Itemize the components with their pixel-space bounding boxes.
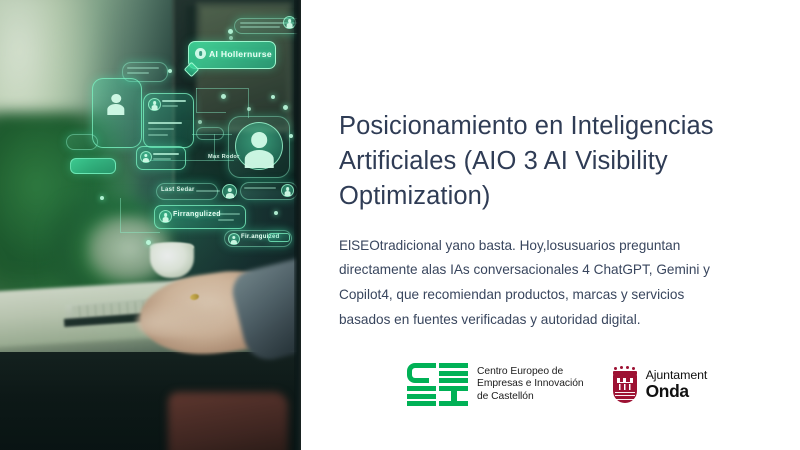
ceei-mark-icon: [407, 363, 468, 406]
holo-avatar-last: [228, 233, 240, 245]
holo-line-c1: [162, 100, 186, 102]
holo-line-f2: [218, 219, 234, 221]
ceei-letter-c: [407, 363, 436, 383]
holo-node-n6: [289, 134, 293, 138]
holo-line-l1b: [127, 72, 149, 74]
holo-avatar-row2: [281, 184, 294, 197]
ceei-line-2: Empresas e Innovación: [477, 378, 584, 390]
holo-node-n4: [247, 107, 251, 111]
holo-connector-4: [196, 112, 226, 113]
holo-label-firrangulized: Firrangulized: [173, 211, 221, 218]
content-panel: Posicionamiento en Inteligencias Artific…: [301, 0, 800, 450]
ajuntament-onda-logo: Ajuntament Onda: [612, 366, 708, 404]
holo-bubble-pill: [268, 233, 290, 242]
holo-node-n7: [100, 196, 104, 200]
holo-line-r2: [244, 187, 276, 189]
holo-connector-2: [196, 88, 248, 89]
holo-bubble-small-3: [196, 127, 224, 140]
holo-connector-8: [120, 198, 121, 232]
holo-avatar-firr: [159, 210, 172, 223]
ceei-logo: Centro Europeo de Empresas e Innovación …: [407, 363, 584, 406]
ceei-line-1: Centro Europeo de: [477, 366, 584, 378]
holo-avatar-mid: [140, 151, 152, 163]
microphone-icon: [195, 48, 206, 59]
holo-node-n2: [271, 95, 275, 99]
onda-castle-base: [617, 382, 633, 390]
holo-connector-9: [120, 232, 160, 233]
holo-bubble-small-2: [70, 158, 116, 174]
page-title: Posicionamiento en Inteligencias Artific…: [339, 109, 759, 214]
holo-line-m1: [153, 153, 179, 155]
onda-wordmark: Ajuntament Onda: [646, 369, 708, 401]
logo-row: Centro Europeo de Empresas e Innovación …: [407, 363, 707, 406]
hero-right-edge: [294, 0, 301, 450]
holo-node-top: [228, 29, 233, 34]
holo-node-n1: [221, 94, 226, 99]
holo-node-n5: [198, 120, 202, 124]
holo-avatar-row: [222, 184, 237, 199]
body-paragraph: ElSEOtradicional yano basta. Hoy,losusua…: [339, 234, 739, 333]
ceei-letter-e1: [439, 363, 468, 383]
ceei-wordmark: Centro Europeo de Empresas e Innovación …: [477, 366, 584, 403]
holo-node-n8: [146, 240, 151, 245]
holo-connector-3: [248, 88, 249, 118]
holo-avatar-right: [235, 122, 283, 170]
onda-shield-icon: [612, 366, 638, 404]
ceei-letter-i: [439, 386, 468, 406]
holo-connector-1: [196, 88, 197, 112]
holo-node-l1: [168, 69, 172, 73]
hero-image: AI Hollernurse: [0, 0, 301, 450]
holo-bubble-small-1: [66, 134, 98, 150]
ceei-line-3: de Castellón: [477, 391, 584, 403]
holo-label-mau-bottor: Last Sedar: [161, 187, 195, 193]
holo-avatar-large: [102, 88, 130, 116]
holo-line-c2: [162, 105, 178, 107]
onda-line-1: Ajuntament: [646, 369, 708, 381]
slide-root: AI Hollernurse: [0, 0, 800, 450]
holo-line-l1a: [127, 67, 159, 69]
holo-line-r1: [196, 190, 220, 192]
holo-node-top2: [229, 36, 233, 40]
holo-line-f1: [218, 213, 240, 215]
onda-line-2: Onda: [646, 383, 708, 400]
holo-avatar-chat: [148, 98, 161, 111]
onda-waves: [615, 392, 635, 401]
holo-line-c5: [148, 134, 168, 136]
holo-node-n3: [283, 105, 288, 110]
holo-line-m2: [153, 158, 171, 160]
holo-line-c4: [148, 128, 174, 130]
holo-line-c3: [148, 122, 182, 124]
holo-label-small-a: Max Rodor: [208, 154, 240, 160]
holo-chip-primary-label: AI Hollernurse: [209, 49, 272, 59]
ceei-letter-e2: [407, 386, 436, 406]
holo-node-n9: [274, 211, 278, 215]
holo-topbar-line-2: [240, 26, 280, 28]
holographic-ui-overlay: AI Hollernurse: [0, 0, 301, 450]
